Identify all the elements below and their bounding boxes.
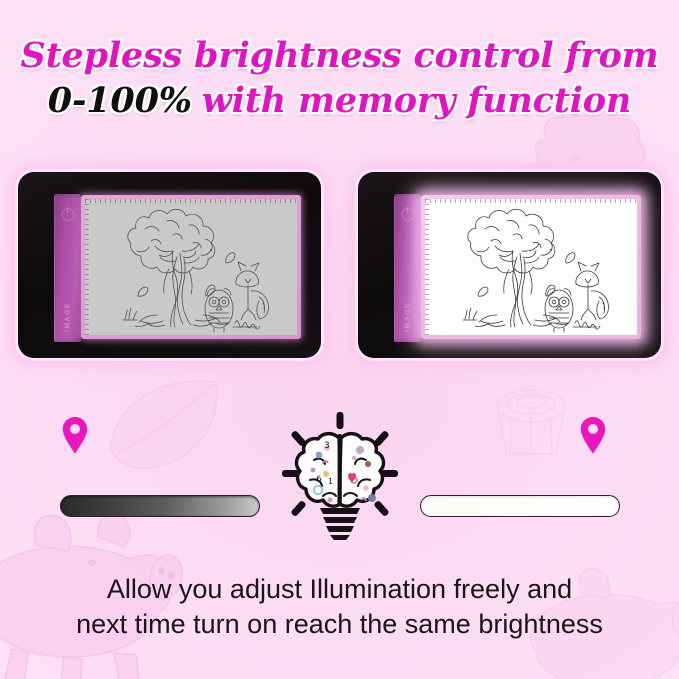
headline-memory-function: with memory function bbox=[202, 80, 631, 121]
caption-line-2: next time turn on reach the same brightn… bbox=[0, 607, 679, 642]
svg-text:1: 1 bbox=[328, 477, 333, 486]
brain-bulb-icon: 3 2 6 1 bbox=[282, 412, 398, 540]
artwork-tree-owl-fox bbox=[85, 199, 297, 335]
svg-text:2: 2 bbox=[316, 451, 321, 460]
tablet-left-panel bbox=[81, 195, 301, 339]
headline-percent-range: 0-100% bbox=[48, 80, 192, 121]
slider-pin-icon[interactable] bbox=[580, 417, 606, 453]
tablet-left-screen bbox=[85, 199, 297, 335]
tablet-left-brand: IMAGE bbox=[64, 302, 71, 332]
power-icon[interactable] bbox=[401, 208, 414, 221]
tablet-right-brand: IMAGE bbox=[404, 302, 411, 332]
tablet-right-screen bbox=[425, 199, 637, 335]
svg-text:3: 3 bbox=[324, 441, 330, 451]
tablet-right-panel bbox=[421, 195, 641, 339]
tablet-right-bright[interactable]: IMAGE bbox=[358, 172, 661, 358]
power-icon[interactable] bbox=[61, 208, 74, 221]
caption-line-1: Allow you adjust Illumination freely and bbox=[0, 572, 679, 607]
tablet-left-dim[interactable]: IMAGE bbox=[18, 172, 321, 358]
brightness-slider-left[interactable] bbox=[60, 415, 260, 525]
artwork-tree-owl-fox bbox=[425, 199, 637, 335]
headline-line-2: 0-100%with memory function bbox=[0, 78, 679, 123]
slider-track-bright[interactable] bbox=[420, 495, 620, 517]
headline: Stepless brightness control from 0-100%w… bbox=[0, 33, 679, 123]
svg-text:6: 6 bbox=[316, 475, 322, 485]
slider-pin-icon[interactable] bbox=[62, 417, 88, 453]
tablet-comparison-row: IMAGE bbox=[0, 168, 679, 368]
slider-track-dim[interactable] bbox=[60, 495, 260, 517]
headline-line-1: Stepless brightness control from bbox=[0, 33, 679, 78]
brightness-slider-right[interactable] bbox=[420, 415, 620, 525]
caption: Allow you adjust Illumination freely and… bbox=[0, 572, 679, 642]
tablet-right-control-strip[interactable]: IMAGE bbox=[394, 194, 421, 342]
promo-image-root: Stepless brightness control from 0-100%w… bbox=[0, 0, 679, 679]
tablet-left-control-strip[interactable]: IMAGE bbox=[54, 194, 81, 342]
